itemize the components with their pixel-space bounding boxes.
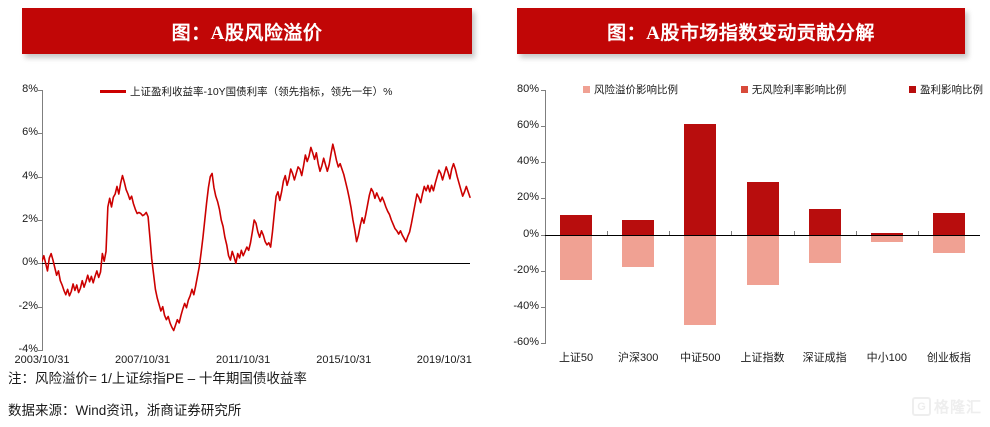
y-tick-mark — [541, 90, 546, 91]
footnote-source: 数据来源：Wind资讯，浙商证券研究所 — [8, 399, 241, 419]
legend-item-label: 盈利影响比例 — [920, 82, 983, 97]
y-tick-mark — [541, 126, 546, 127]
bar-positive — [560, 215, 592, 235]
bar-negative — [560, 235, 592, 280]
watermark-logo-icon: G — [912, 397, 931, 416]
legend-item-1: 无风险利率影响比例 — [741, 82, 847, 97]
legend-item-label: 风险溢价影响比例 — [594, 82, 678, 97]
bar-negative — [809, 235, 841, 264]
risk-premium-line-series — [42, 144, 470, 330]
bar-negative — [871, 235, 903, 242]
y-tick-label: 0% — [0, 256, 38, 268]
legend-swatch-icon — [741, 86, 748, 93]
x-tick-label: 2019/10/31 — [402, 354, 486, 366]
bar-negative — [684, 235, 716, 325]
bar-positive — [933, 213, 965, 235]
right-chart-panel: 图：A股市场指数变动贡献分解 风险溢价影响比例无风险利率影响比例盈利影响比例 8… — [495, 0, 990, 427]
right-chart-title-bar: 图：A股市场指数变动贡献分解 — [517, 8, 965, 54]
y-tick-label: 80% — [495, 83, 539, 95]
x-tick-label: 2007/10/31 — [101, 354, 185, 366]
y-tick-label: -2% — [0, 300, 38, 312]
legend-item-label: 无风险利率影响比例 — [752, 82, 847, 97]
y-tick-label: -40% — [495, 300, 539, 312]
y-tick-label: 0% — [495, 228, 539, 240]
left-chart-plot — [42, 90, 472, 352]
legend-item-2: 盈利影响比例 — [909, 82, 983, 97]
right-chart-title: 图：A股市场指数变动贡献分解 — [607, 18, 875, 45]
legend-item-0: 风险溢价影响比例 — [583, 82, 678, 97]
y-tick-label: 6% — [0, 126, 38, 138]
x-tick-label: 2015/10/31 — [302, 354, 386, 366]
y-tick-label: 60% — [495, 119, 539, 131]
right-chart-y-spine — [545, 90, 546, 343]
y-tick-mark — [541, 307, 546, 308]
y-tick-label: 40% — [495, 155, 539, 167]
y-tick-mark — [541, 198, 546, 199]
left-chart-panel: 图：A股风险溢价 上证盈利收益率-10Y国债利率（领先指标，领先一年）% 8%6… — [0, 0, 495, 427]
footnote-definition: 注：风险溢价= 1/上证综指PE – 十年期国债收益率 — [8, 367, 307, 387]
left-chart-title-bar: 图：A股风险溢价 — [22, 8, 472, 54]
left-chart-title: 图：A股风险溢价 — [172, 18, 323, 45]
y-tick-mark — [541, 162, 546, 163]
y-tick-label: 4% — [0, 170, 38, 182]
watermark: G 格隆汇 — [912, 396, 982, 417]
y-tick-label: -20% — [495, 264, 539, 276]
bar-positive — [684, 124, 716, 234]
y-tick-label: -60% — [495, 336, 539, 348]
y-tick-label: 20% — [495, 191, 539, 203]
legend-swatch-icon — [909, 86, 916, 93]
bar-negative — [622, 235, 654, 268]
bar-positive — [622, 220, 654, 234]
y-tick-mark — [541, 271, 546, 272]
x-category-label: 创业板指 — [909, 349, 989, 365]
y-tick-label: 8% — [0, 83, 38, 95]
watermark-text: 格隆汇 — [934, 396, 982, 417]
legend-swatch-icon — [583, 86, 590, 93]
right-chart-legend: 风险溢价影响比例无风险利率影响比例盈利影响比例 — [583, 82, 983, 97]
bar-positive — [747, 182, 779, 234]
bar-positive — [809, 209, 841, 234]
y-tick-label: 2% — [0, 213, 38, 225]
right-chart-zero-line — [545, 235, 980, 236]
x-tick-label: 2003/10/31 — [0, 354, 84, 366]
bar-negative — [933, 235, 965, 253]
x-tick-label: 2011/10/31 — [201, 354, 285, 366]
bar-negative — [747, 235, 779, 286]
y-tick-mark — [541, 343, 546, 344]
